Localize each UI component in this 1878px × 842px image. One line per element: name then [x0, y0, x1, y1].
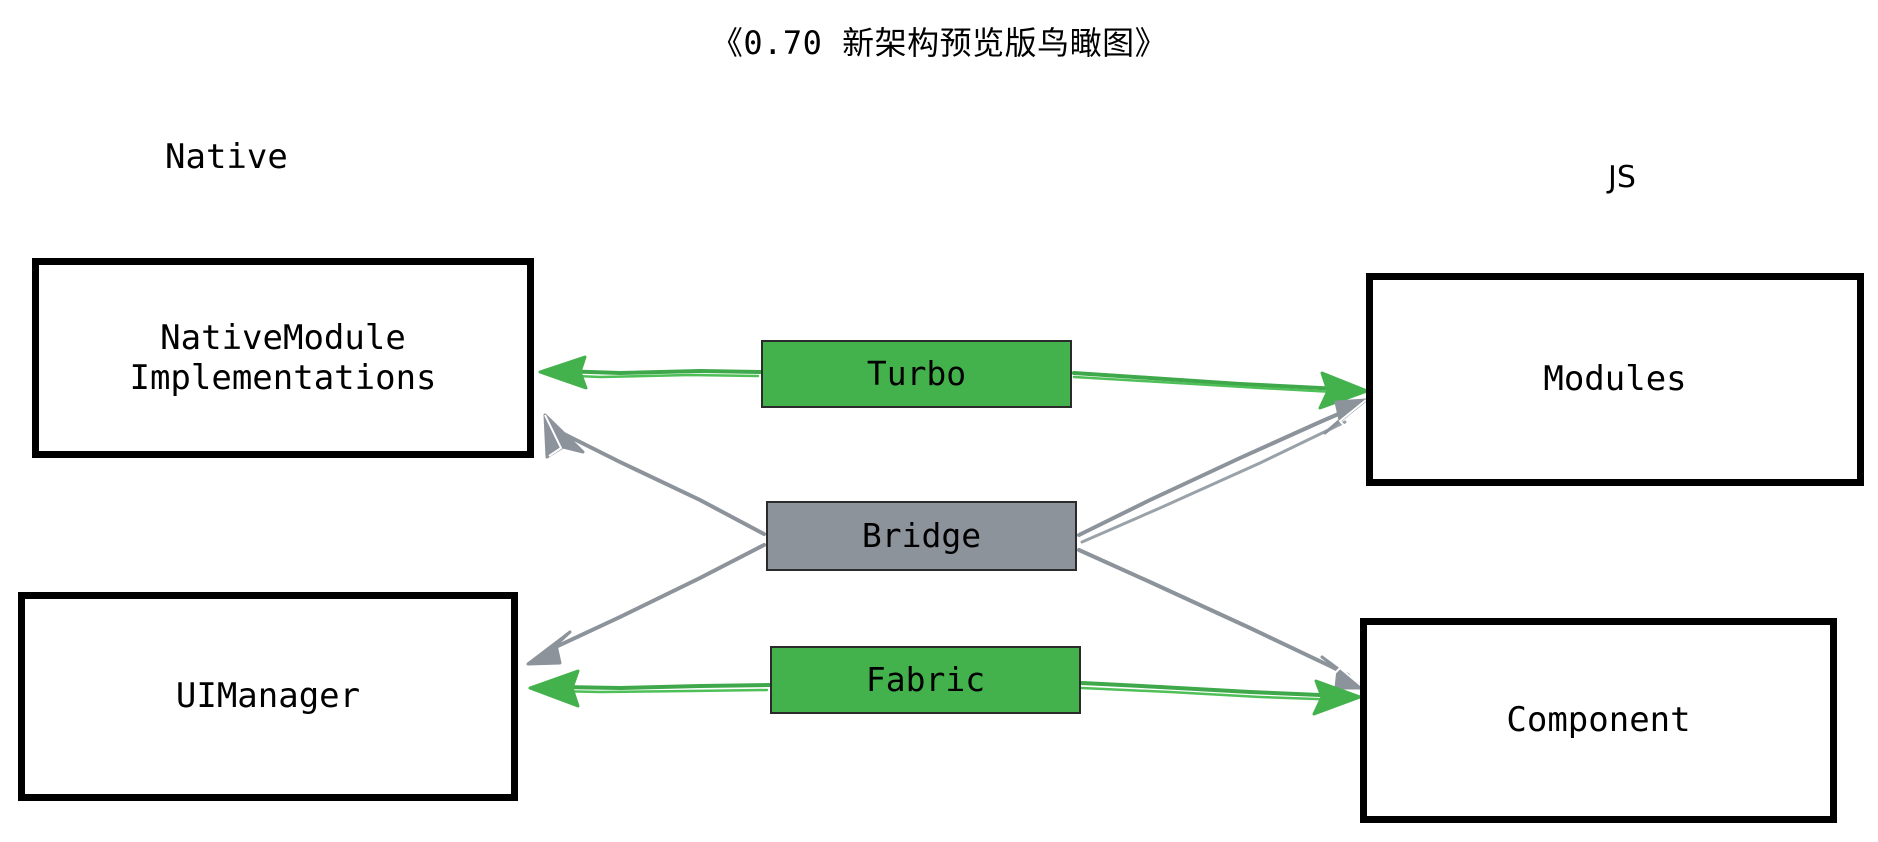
edge-bridge-to-uimanager: [528, 545, 764, 664]
edge-fabric-to-uimanager: [530, 671, 769, 706]
node-label: Modules: [1543, 359, 1686, 399]
node-label: UIManager: [176, 676, 360, 716]
node-fabric[interactable]: Fabric: [770, 646, 1081, 714]
edge-bridge-to-modules: [1079, 400, 1366, 542]
edge-bridge-to-nativemodule: [545, 415, 764, 534]
node-bridge[interactable]: Bridge: [766, 501, 1077, 571]
edge-turbo-to-nativemodule: [540, 357, 760, 388]
node-label: Component: [1506, 700, 1690, 740]
node-label: Fabric: [866, 661, 985, 700]
node-nativemodule-implementations[interactable]: NativeModule Implementations: [32, 258, 534, 458]
edge-bridge-to-component: [1079, 550, 1364, 688]
node-label: NativeModule Implementations: [129, 318, 436, 398]
node-turbo[interactable]: Turbo: [761, 340, 1072, 408]
node-label: Turbo: [867, 355, 966, 394]
node-label: Bridge: [862, 517, 981, 556]
diagram-canvas: 《0.70 新架构预览版鸟瞰图》 Native JS: [0, 0, 1878, 842]
node-component[interactable]: Component: [1360, 618, 1837, 823]
edge-fabric-to-component: [1082, 681, 1360, 714]
node-uimanager[interactable]: UIManager: [18, 592, 518, 801]
node-modules[interactable]: Modules: [1366, 273, 1864, 486]
edge-turbo-to-modules: [1074, 373, 1367, 408]
